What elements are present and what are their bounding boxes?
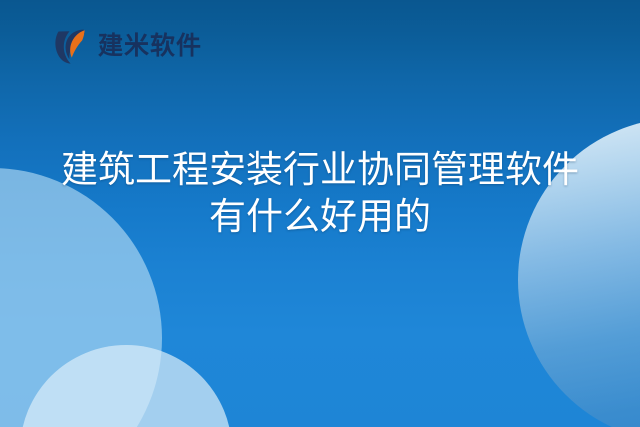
brand-wordmark: 建米软件	[98, 33, 202, 58]
brand-logo[interactable]: 建米软件	[52, 24, 202, 66]
page-title-line-2: 有什么好用的	[0, 193, 640, 240]
page-title: 建筑工程安装行业协同管理软件 有什么好用的	[0, 146, 640, 240]
page-title-line-1: 建筑工程安装行业协同管理软件	[0, 146, 640, 193]
jianmi-swoosh-logo-icon	[52, 25, 92, 65]
decorative-circle-left-small	[20, 345, 232, 427]
promo-banner: 建米软件 建筑工程安装行业协同管理软件 有什么好用的	[0, 0, 640, 427]
